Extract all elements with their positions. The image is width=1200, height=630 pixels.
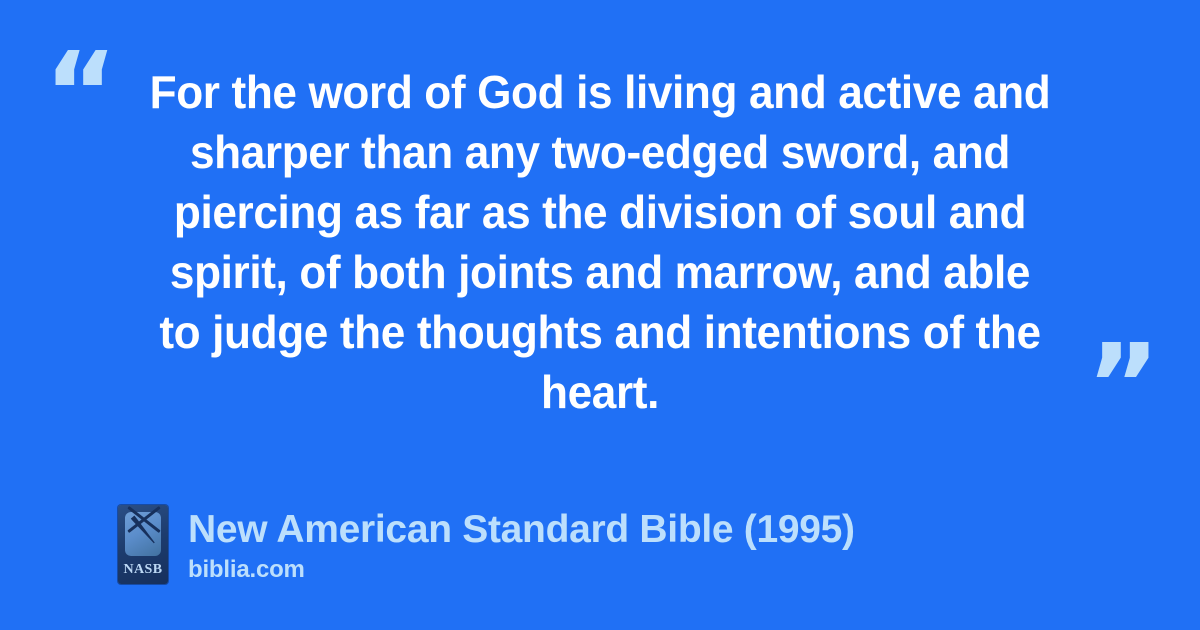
attribution-text: New American Standard Bible (1995) bibli… (188, 505, 855, 585)
closing-quote-icon: ” (1086, 330, 1158, 442)
quote-line: spirit, of both joints and marrow, and a… (139, 242, 1061, 302)
quote-line: For the word of God is living and active… (139, 62, 1061, 122)
attribution: NASB New American Standard Bible (1995) … (118, 505, 855, 585)
logo-label: NASB (118, 562, 168, 578)
source-site-link[interactable]: biblia.com (188, 555, 855, 585)
opening-quote-icon: “ (44, 38, 116, 150)
quote-text-block: For the word of God is living and active… (120, 62, 1080, 422)
quote-line: heart. (139, 362, 1061, 422)
quote-line: sharper than any two-edged sword, and (139, 122, 1061, 182)
nasb-logo-icon: NASB (118, 505, 168, 584)
quote-card: “ For the word of God is living and acti… (0, 0, 1200, 630)
quote-line: piercing as far as the division of soul … (139, 182, 1061, 242)
source-name: New American Standard Bible (1995) (188, 507, 855, 553)
quote-line: to judge the thoughts and intentions of … (139, 302, 1061, 362)
